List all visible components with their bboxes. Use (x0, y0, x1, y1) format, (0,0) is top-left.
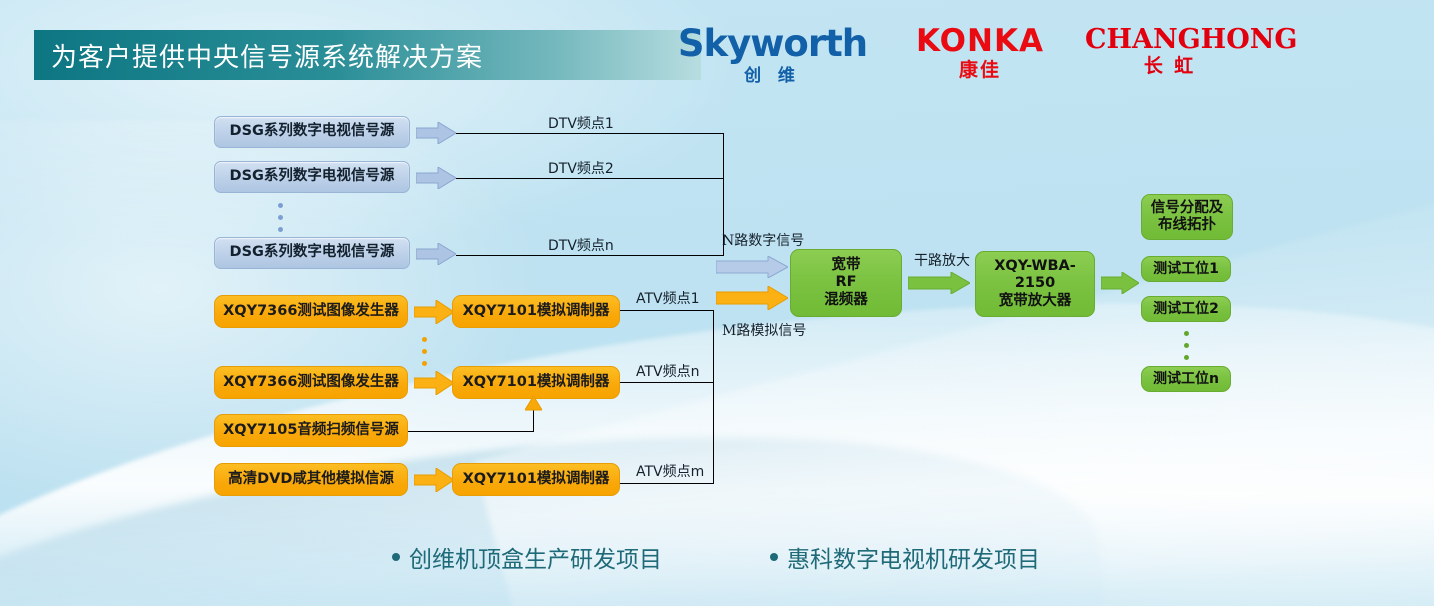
edge-label-dtv-1: DTV频点1 (548, 113, 614, 133)
node-label-line3: 混频器 (824, 292, 868, 309)
ellipsis-test-stations (1184, 331, 1189, 360)
node-pattern-generator-1[interactable]: XQY7366测试图像发生器 (214, 295, 408, 328)
node-label: XQY7105音频扫频信号源 (223, 422, 399, 439)
node-modulator-1[interactable]: XQY7101模拟调制器 (452, 295, 620, 328)
link-dtv-n (456, 255, 724, 256)
arrow-right-icon-dvd (414, 468, 454, 492)
arrow-right-icon-trunk-analog (716, 286, 788, 310)
arrow-up-icon-audio (525, 396, 542, 412)
link-dtv-1 (456, 133, 724, 134)
logo-changhong: CHANGHONG 长 虹 (1085, 26, 1255, 76)
node-test-station-1[interactable]: 测试工位1 (1141, 256, 1231, 282)
node-label-line2: 布线拓扑 (1158, 217, 1216, 234)
footer-item-1: 惠科数字电视机研发项目 (770, 540, 1040, 574)
node-pattern-generator-n[interactable]: XQY7366测试图像发生器 (214, 366, 408, 399)
bus-atv-vertical (713, 310, 714, 484)
node-label: DSG系列数字电视信号源 (230, 244, 395, 261)
edge-label-atv-m: ATV频点m (636, 461, 704, 481)
node-label: XQY7101模拟调制器 (463, 303, 610, 320)
node-digital-source-2[interactable]: DSG系列数字电视信号源 (214, 161, 410, 193)
footer-item-0: 创维机顶盒生产研发项目 (392, 540, 662, 574)
node-label: XQY7366测试图像发生器 (223, 374, 399, 391)
logo-skyworth-main: Skyworth (665, 25, 880, 62)
page-title-bar: 为客户提供中央信号源系统解决方案 (34, 30, 701, 80)
edge-label-atv-1: ATV频点1 (636, 288, 700, 308)
edge-label-atv-n: ATV频点n (636, 361, 700, 381)
node-label: 测试工位n (1153, 371, 1219, 388)
node-label: XQY7366测试图像发生器 (223, 303, 399, 320)
node-audio-sweep-source[interactable]: XQY7105音频扫频信号源 (214, 414, 408, 447)
node-test-station-n[interactable]: 测试工位n (1141, 366, 1231, 392)
node-rf-mixer[interactable]: 宽带 RF 混频器 (790, 249, 902, 317)
edge-label-dtv-n: DTV频点n (548, 235, 614, 255)
link-audio-vertical (533, 410, 534, 432)
node-label-line1: XQY-WBA- (994, 258, 1076, 275)
arrow-right-icon-analog-n (414, 371, 454, 395)
arrow-right-icon-analog-1 (414, 300, 454, 324)
link-atv-n (620, 382, 714, 383)
bullet-icon (770, 553, 778, 561)
bullet-icon (392, 553, 400, 561)
arrow-right-icon-amplify (908, 272, 970, 294)
slide-canvas: 为客户提供中央信号源系统解决方案 Skyworth 创 维 KONKA 康佳 C… (0, 0, 1434, 606)
logo-skyworth: Skyworth 创 维 (665, 25, 880, 84)
link-atv-m (620, 483, 714, 484)
logo-konka-main: KONKA (905, 26, 1055, 57)
node-label: DSG系列数字电视信号源 (230, 123, 395, 140)
arrow-right-icon-digital-2 (416, 167, 456, 189)
node-dvd-source[interactable]: 高清DVD咸其他模拟信源 (214, 463, 408, 496)
arrow-right-icon-digital-n (416, 243, 456, 265)
arrow-right-icon-digital-1 (416, 122, 456, 144)
trunk-label-digital: N路数字信号 (722, 230, 804, 250)
node-label-line3: 宽带放大器 (999, 293, 1072, 310)
node-label-line2: RF (835, 274, 856, 291)
node-digital-source-n[interactable]: DSG系列数字电视信号源 (214, 237, 410, 269)
logo-changhong-sub: 长 虹 (1085, 57, 1255, 76)
node-modulator-n[interactable]: XQY7101模拟调制器 (452, 366, 620, 399)
node-modulator-m[interactable]: XQY7101模拟调制器 (452, 463, 620, 496)
footer-item-label: 惠科数字电视机研发项目 (787, 540, 1040, 574)
page-title: 为客户提供中央信号源系统解决方案 (34, 37, 483, 74)
logo-konka: KONKA 康佳 (905, 26, 1055, 80)
link-dtv-2 (456, 178, 724, 179)
ellipsis-analog-generators (422, 337, 427, 366)
trunk-label-analog: M路模拟信号 (722, 320, 806, 340)
node-label: 测试工位2 (1153, 301, 1219, 318)
footer-item-label: 创维机顶盒生产研发项目 (409, 540, 662, 574)
node-test-station-2[interactable]: 测试工位2 (1141, 296, 1231, 322)
arrow-right-icon-trunk-digital (716, 256, 788, 278)
link-audio-horizontal (408, 431, 533, 432)
node-label-line1: 信号分配及 (1151, 200, 1224, 217)
node-label: XQY7101模拟调制器 (463, 471, 610, 488)
node-signal-distribution[interactable]: 信号分配及 布线拓扑 (1141, 194, 1233, 240)
node-label: 测试工位1 (1153, 261, 1219, 278)
logo-changhong-main: CHANGHONG (1085, 26, 1255, 53)
node-label: 高清DVD咸其他模拟信源 (228, 471, 394, 488)
arrow-right-icon-distribution (1101, 272, 1139, 294)
node-label-line1: 宽带 (832, 257, 861, 274)
node-label: XQY7101模拟调制器 (463, 374, 610, 391)
node-label-line2: 2150 (1015, 275, 1055, 292)
logo-konka-sub: 康佳 (905, 61, 1055, 80)
trunk-label-amplify: 干路放大 (914, 250, 970, 270)
link-atv-1 (620, 310, 714, 311)
node-label: DSG系列数字电视信号源 (230, 168, 395, 185)
logo-skyworth-sub: 创 维 (665, 67, 880, 84)
node-digital-source-1[interactable]: DSG系列数字电视信号源 (214, 116, 410, 148)
ellipsis-digital-sources (278, 203, 283, 232)
edge-label-dtv-2: DTV频点2 (548, 158, 614, 178)
node-broadband-amplifier[interactable]: XQY-WBA- 2150 宽带放大器 (975, 251, 1095, 317)
